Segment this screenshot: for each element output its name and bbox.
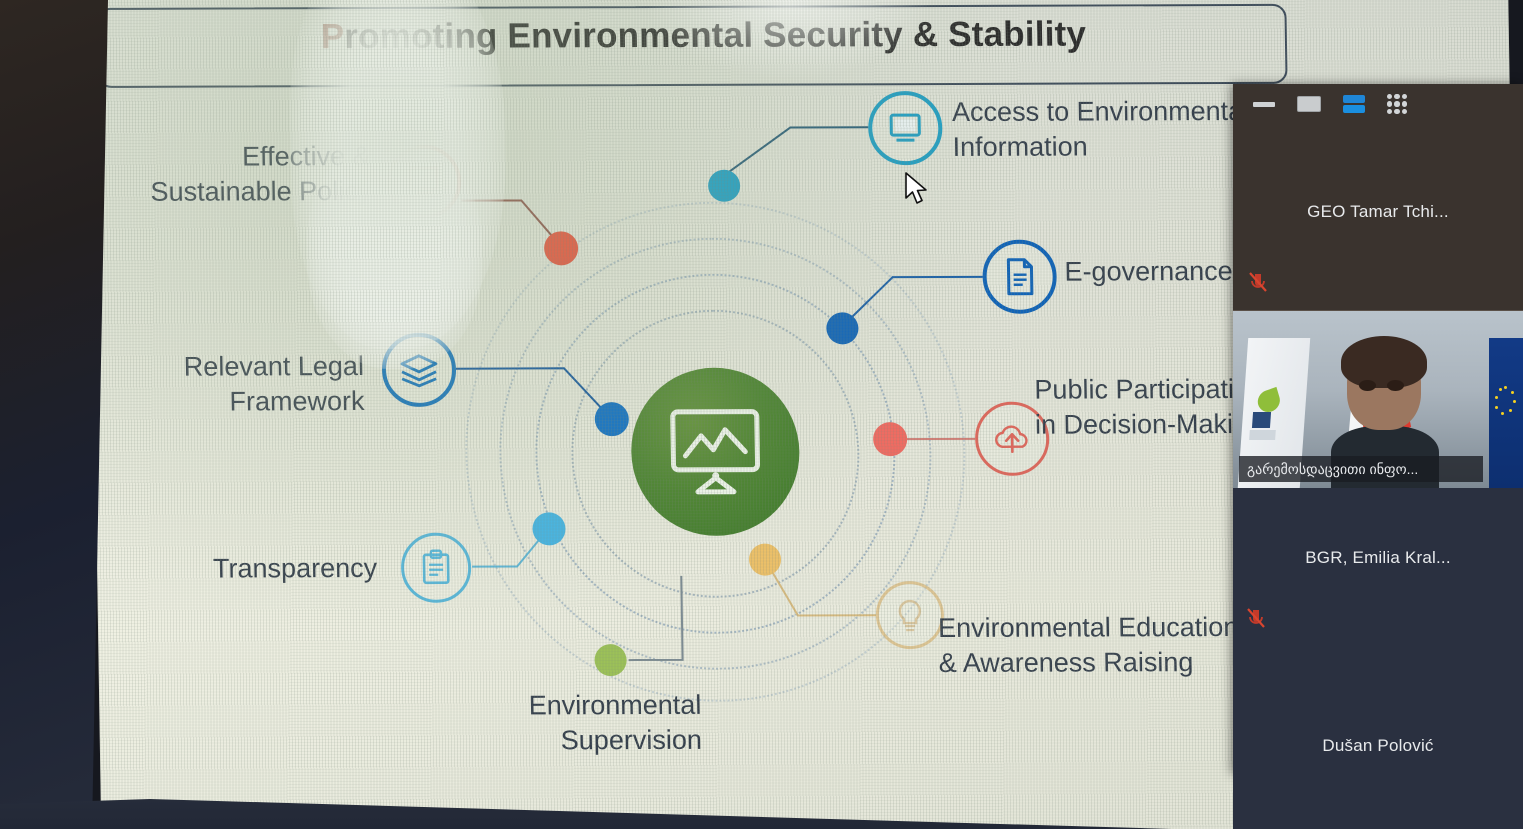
lightbulb-icon [895,598,926,632]
orbit-dot-red [544,231,579,265]
participant-name: GEO Tamar Tchi... [1233,202,1523,222]
mouse-pointer [904,172,930,206]
icon-relevant-legal-framework[interactable] [381,333,456,407]
layers-icon [398,352,441,388]
grid-view-icon[interactable] [1387,94,1407,114]
orbit-dot-blue-right [826,312,859,344]
participant-name: Dušan Polović [1233,736,1523,756]
single-view-icon[interactable] [1297,96,1321,112]
icon-effective-sustainable-policy[interactable] [386,145,461,219]
orbit-dot-salmon [873,422,908,456]
label-relevant-legal-framework: Relevant Legal Framework [88,349,365,419]
eu-flag [1489,338,1523,488]
orbit-dot-lightblue [532,512,566,545]
document-icon [1002,257,1037,297]
monitor-icon [886,111,925,145]
icon-access-to-environmental-information[interactable] [868,91,943,165]
icon-e-governance[interactable] [982,240,1057,314]
minimize-icon[interactable] [1253,102,1275,107]
video-caption: გარემოსდაცვითი ინფო... [1239,456,1483,482]
video-conference-panel[interactable]: GEO Tamar Tchi... [1233,84,1523,774]
icon-environmental-education[interactable] [875,581,944,649]
monitor-chart-icon [667,408,764,496]
central-hub [630,367,801,536]
participant-tile[interactable]: BGR, Emilia Kral... [1233,488,1523,674]
chevron-down-icon[interactable]: ⌄ [1233,820,1523,829]
mic-muted-icon [1249,272,1267,292]
orbit-dot-green [594,644,627,676]
photographed-screen: Promoting Environmental Security & Stabi… [0,0,1523,829]
participant-name: BGR, Emilia Kral... [1233,548,1523,568]
icon-transparency[interactable] [401,533,472,603]
participant-tile[interactable]: Dušan Polović [1233,674,1523,829]
clipboard-icon [419,549,454,587]
orbit-dot-teal [708,170,741,202]
participant-tile-video[interactable]: გარემოსდაცვითი ინფო... [1233,310,1523,488]
video-panel-toolbar[interactable] [1233,84,1523,124]
split-view-icon[interactable] [1343,95,1365,114]
participant-tile[interactable]: GEO Tamar Tchi... [1233,124,1523,310]
mic-muted-icon [1247,608,1265,628]
label-environmental-supervision: Environmental Supervision [371,688,702,758]
label-transparency: Transparency [117,551,378,586]
orbit-dot-blue-left [595,402,630,436]
cloud-upload-icon [991,422,1034,456]
orbit-dot-amber [749,544,782,576]
label-effective-sustainable-policy: Effective & Sustainable Policy [88,139,371,209]
monitor-icon [406,165,443,199]
